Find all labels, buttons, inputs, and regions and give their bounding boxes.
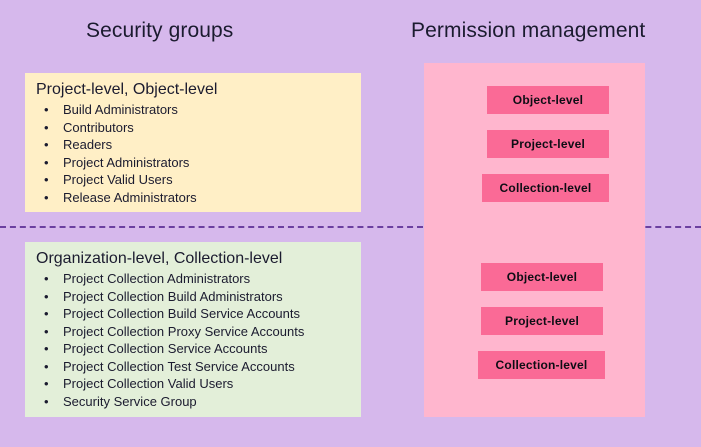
list-item: • Readers	[36, 136, 353, 154]
list-item-label: Project Collection Build Administrators	[63, 289, 283, 304]
list-item-label: Project Collection Build Service Account…	[63, 306, 300, 321]
list-item: • Project Collection Administrators	[36, 270, 353, 288]
list-item-label: Project Collection Proxy Service Account…	[63, 324, 304, 339]
list-item-label: Security Service Group	[63, 394, 197, 409]
bullet-icon: •	[44, 101, 49, 119]
bullet-icon: •	[44, 171, 49, 189]
list-item-label: Project Administrators	[63, 155, 189, 170]
list-item: • Project Administrators	[36, 154, 353, 172]
bullet-icon: •	[44, 288, 49, 306]
permission-chip-collection-level-bottom: Collection-level	[478, 351, 605, 379]
list-item: • Build Administrators	[36, 101, 353, 119]
permission-chip-collection-level-top: Collection-level	[482, 174, 609, 202]
project-object-level-group-box: Project-level, Object-level • Build Admi…	[25, 73, 361, 212]
organization-collection-level-group-box: Organization-level, Collection-level • P…	[25, 242, 361, 417]
security-groups-heading: Security groups	[86, 18, 233, 44]
diagram-canvas: Security groups Permission management Pr…	[0, 0, 701, 447]
bullet-icon: •	[44, 119, 49, 137]
list-item: • Project Valid Users	[36, 171, 353, 189]
organization-collection-level-list: • Project Collection Administrators • Pr…	[36, 270, 353, 410]
list-item: • Project Collection Build Service Accou…	[36, 305, 353, 323]
permission-management-heading: Permission management	[411, 18, 645, 44]
list-item: • Project Collection Service Accounts	[36, 340, 353, 358]
permission-chip-project-level-bottom: Project-level	[481, 307, 603, 335]
bullet-icon: •	[44, 270, 49, 288]
list-item: • Project Collection Build Administrator…	[36, 288, 353, 306]
list-item: • Contributors	[36, 119, 353, 137]
bullet-icon: •	[44, 375, 49, 393]
permission-management-panel: Object-level Project-level Collection-le…	[424, 63, 645, 417]
bullet-icon: •	[44, 189, 49, 207]
list-item-label: Contributors	[63, 120, 134, 135]
list-item: • Release Administrators	[36, 189, 353, 207]
permission-chip-object-level-top: Object-level	[487, 86, 609, 114]
list-item: • Project Collection Valid Users	[36, 375, 353, 393]
bullet-icon: •	[44, 323, 49, 341]
project-object-level-list: • Build Administrators • Contributors • …	[36, 101, 353, 206]
list-item: • Security Service Group	[36, 393, 353, 411]
permission-chip-object-level-bottom: Object-level	[481, 263, 603, 291]
bullet-icon: •	[44, 358, 49, 376]
list-item-label: Project Valid Users	[63, 172, 173, 187]
permission-chip-project-level-top: Project-level	[487, 130, 609, 158]
list-item-label: Release Administrators	[63, 190, 197, 205]
bullet-icon: •	[44, 154, 49, 172]
list-item-label: Project Collection Valid Users	[63, 376, 233, 391]
list-item-label: Project Collection Service Accounts	[63, 341, 267, 356]
list-item: • Project Collection Proxy Service Accou…	[36, 323, 353, 341]
list-item-label: Project Collection Test Service Accounts	[63, 359, 295, 374]
bullet-icon: •	[44, 305, 49, 323]
list-item-label: Readers	[63, 137, 112, 152]
bullet-icon: •	[44, 393, 49, 411]
list-item-label: Project Collection Administrators	[63, 271, 250, 286]
bullet-icon: •	[44, 340, 49, 358]
organization-collection-level-title: Organization-level, Collection-level	[36, 248, 353, 269]
list-item: • Project Collection Test Service Accoun…	[36, 358, 353, 376]
project-object-level-title: Project-level, Object-level	[36, 79, 353, 100]
bullet-icon: •	[44, 136, 49, 154]
list-item-label: Build Administrators	[63, 102, 178, 117]
